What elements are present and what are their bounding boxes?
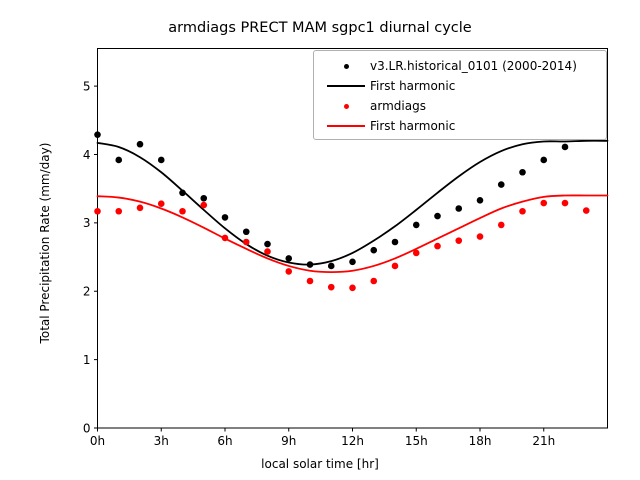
data-point — [498, 181, 505, 188]
legend-marker-dot-black — [322, 64, 370, 69]
data-point — [434, 213, 441, 220]
legend-label: First harmonic — [370, 79, 455, 93]
data-point — [94, 208, 101, 215]
x-tick-label: 18h — [469, 434, 492, 448]
y-tick-label: 1 — [83, 353, 91, 367]
legend-label: v3.LR.historical_0101 (2000-2014) — [370, 59, 577, 73]
legend-marker-line-red — [322, 125, 370, 127]
legend-item[interactable]: First harmonic — [322, 76, 598, 96]
data-point — [200, 202, 207, 209]
y-tick-label: 0 — [83, 421, 91, 435]
data-point — [519, 208, 526, 215]
data-point — [392, 263, 399, 270]
data-point — [477, 197, 484, 204]
data-point — [392, 239, 399, 246]
data-point — [222, 235, 229, 242]
data-point — [243, 239, 250, 246]
x-tick-label: 15h — [405, 434, 428, 448]
data-point — [158, 200, 165, 207]
data-point — [370, 247, 377, 254]
x-tick-label: 12h — [341, 434, 364, 448]
legend-label: First harmonic — [370, 119, 455, 133]
data-point — [562, 200, 569, 207]
data-point — [540, 200, 547, 207]
data-point — [519, 169, 526, 176]
data-point — [562, 144, 569, 151]
x-tick-label: 21h — [532, 434, 555, 448]
data-point — [94, 131, 101, 138]
data-point — [540, 157, 547, 164]
data-point — [307, 278, 314, 285]
data-point — [243, 228, 250, 235]
x-tick-label: 0h — [90, 434, 105, 448]
data-point — [477, 233, 484, 240]
legend-item[interactable]: armdiags — [322, 96, 598, 116]
legend-item[interactable]: First harmonic — [322, 116, 598, 136]
y-tick-label: 3 — [83, 216, 91, 230]
x-tick-label: 3h — [154, 434, 169, 448]
x-tick-label: 6h — [217, 434, 232, 448]
data-point — [179, 189, 186, 196]
data-point — [137, 205, 144, 212]
data-point — [179, 208, 186, 215]
data-point — [328, 263, 335, 270]
data-point — [434, 243, 441, 250]
x-tick-label: 9h — [281, 434, 296, 448]
y-tick-label: 5 — [83, 79, 91, 93]
data-point — [413, 250, 420, 257]
data-point — [498, 222, 505, 229]
data-point — [115, 157, 122, 164]
legend-marker-line-black — [322, 85, 370, 87]
data-point — [285, 268, 292, 275]
data-point — [285, 255, 292, 262]
data-point — [264, 248, 271, 255]
data-point — [115, 208, 122, 215]
data-point — [455, 205, 462, 212]
data-point — [264, 241, 271, 248]
data-point — [349, 259, 356, 266]
legend-marker-dot-red — [322, 104, 370, 109]
data-point — [583, 207, 590, 214]
data-point — [158, 157, 165, 164]
data-point — [328, 284, 335, 291]
data-point — [413, 222, 420, 229]
data-point — [307, 261, 314, 268]
data-point — [222, 214, 229, 221]
y-tick-label: 4 — [83, 148, 91, 162]
legend-label: armdiags — [370, 99, 426, 113]
legend-item[interactable]: v3.LR.historical_0101 (2000-2014) — [322, 56, 598, 76]
chart-legend: v3.LR.historical_0101 (2000-2014) First … — [313, 50, 607, 140]
data-point — [455, 237, 462, 244]
data-point — [200, 195, 207, 202]
data-point — [137, 141, 144, 148]
y-tick-label: 2 — [83, 285, 91, 299]
figure-canvas: armdiags PRECT MAM sgpc1 diurnal cycle T… — [0, 0, 640, 480]
data-point — [370, 278, 377, 285]
data-point — [349, 285, 356, 292]
